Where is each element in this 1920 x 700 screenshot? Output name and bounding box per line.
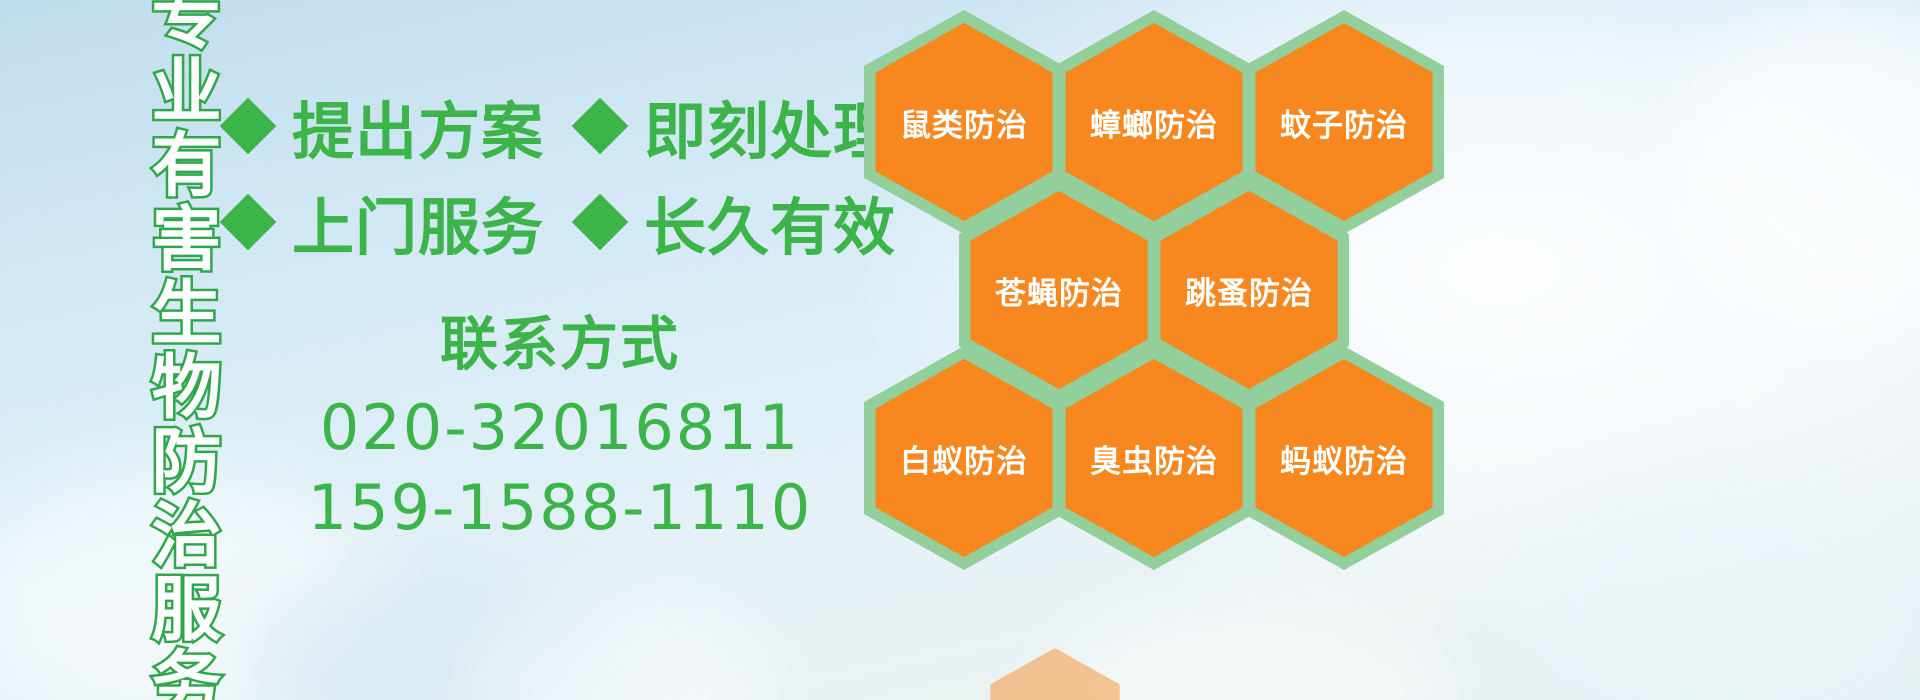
diamond-icon xyxy=(220,194,277,251)
service-label: 白蚁防治 xyxy=(864,346,1064,570)
feature-item-label: 提出方案 xyxy=(292,81,544,171)
background-haze-blob xyxy=(470,600,770,700)
service-label: 臭虫防治 xyxy=(1054,346,1254,570)
feature-row: 提出方案 即刻处理 xyxy=(228,78,888,174)
service-label: 蚂蚁防治 xyxy=(1244,346,1444,570)
service-hexagon[interactable]: 臭虫防治 xyxy=(1054,346,1254,570)
diamond-icon xyxy=(220,98,277,155)
pest-control-banner: 专业有害生物防治服务 提出方案 即刻处理 上门服务 长久有效 联系方式 020-… xyxy=(0,0,1920,700)
contact-phone-mobile[interactable]: 159-1588-1110 xyxy=(230,468,890,547)
feature-list: 提出方案 即刻处理 上门服务 长久有效 xyxy=(228,78,888,270)
feature-row: 上门服务 长久有效 xyxy=(228,174,888,270)
service-hexagon[interactable]: 白蚁防治 xyxy=(864,346,1064,570)
feature-item-label: 长久有效 xyxy=(644,177,896,267)
feature-item-label: 即刻处理 xyxy=(644,81,896,171)
background-haze-blob xyxy=(1500,470,1920,700)
background-haze-blob xyxy=(1680,0,1920,340)
contact-phone-landline[interactable]: 020-32016811 xyxy=(230,388,890,467)
service-hexagon-grid: 鼠类防治 蟑螂防治 蚊子防治 苍蝇防治 跳蚤防治 白蚁防治 xyxy=(862,0,1462,700)
feature-item-label: 上门服务 xyxy=(292,177,544,267)
contact-block: 联系方式 020-32016811 159-1588-1110 xyxy=(230,310,890,547)
service-hexagon[interactable]: 蚂蚁防治 xyxy=(1244,346,1444,570)
diamond-icon xyxy=(572,98,629,155)
vertical-headline: 专业有害生物防治服务 xyxy=(112,8,216,692)
background-haze-blob xyxy=(250,560,630,700)
diamond-icon xyxy=(572,194,629,251)
contact-title: 联系方式 xyxy=(230,310,890,378)
